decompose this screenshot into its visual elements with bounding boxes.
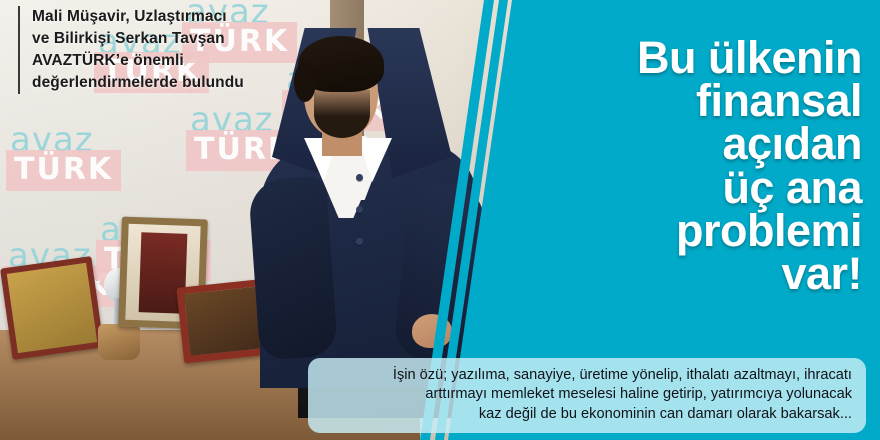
caption-line: kaz değil de bu ekonominin can damarı ol… [322, 405, 852, 424]
headline-line: var! [562, 252, 862, 295]
caption-box: İşin özü; yazılıma, sanayiye, üretime yö… [308, 358, 866, 433]
caption-line: arttırmayı memleket meselesi haline geti… [322, 385, 852, 404]
kicker-line: değerlendirmelerde bulundu [32, 72, 244, 94]
news-graphic: avaz TÜRK avaz TÜRK avaz TÜRK avaz TÜRK … [0, 0, 880, 440]
cardigan-button [356, 206, 363, 213]
headline-line: problemi [562, 209, 862, 252]
headline-line: Bu ülkenin [562, 36, 862, 79]
arm-left [248, 175, 338, 360]
cardigan-button [356, 174, 363, 181]
caption-line: İşin özü; yazılıma, sanayiye, üretime yö… [322, 366, 852, 385]
kicker-line: Mali Müşavir, Uzlaştırmacı [32, 6, 244, 28]
kicker-line: AVAZTÜRK’e önemli [32, 50, 244, 72]
headline-line: üç ana [562, 166, 862, 209]
watermark-turk: TÜRK [6, 150, 121, 191]
kicker-text: Mali Müşavir, Uzlaştırmacı ve Bilirkişi … [18, 6, 244, 94]
headline: Bu ülkenin finansal açıdan üç ana proble… [562, 36, 862, 295]
headline-line: finansal [562, 79, 862, 122]
kicker-line: ve Bilirkişi Serkan Tavşan [32, 28, 244, 50]
trophy-base [98, 324, 140, 360]
hair [298, 36, 384, 92]
beard [314, 90, 370, 138]
headline-line: açıdan [562, 122, 862, 165]
cardigan-button [356, 238, 363, 245]
award-plaque [0, 256, 104, 360]
